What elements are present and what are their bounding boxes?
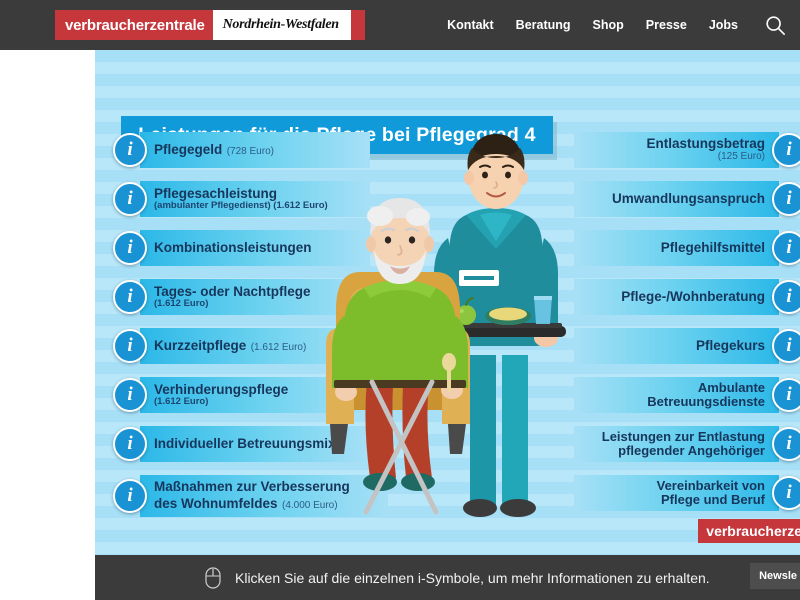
watermark-logo: verbraucherze [698,519,800,543]
item-amount: (125 Euro) [646,152,765,163]
bar-text: Tages- oder Nachtpflege (1.612 Euro) [140,285,321,310]
item-sub: (ambulanter Pflegedienst) (1.612 Euro) [154,201,328,211]
bar-text: Pflegegeld (728 Euro) [140,141,284,158]
bar-pflege-wohnberatung: Pflege-/Wohnberatung [574,279,779,315]
bar-text: Pflege-/Wohnberatung [611,288,779,305]
info-icon-verhinderungspflege[interactable]: i [113,378,147,412]
item-label: Tages- oder Nachtpflege [154,285,311,300]
item-label-line1: Ambulante [647,381,765,395]
nav-item-kontakt[interactable]: Kontakt [447,18,494,32]
item-amount: (1.612 Euro) [251,342,307,353]
bar-text: Ambulante Betreuungsdienste [637,381,779,409]
item-label: Pflegekurs [696,338,765,353]
info-icon-pflegehilfsmittel[interactable]: i [772,231,800,265]
item-label-line2: Pflege und Beruf [657,493,765,507]
bar-text: Individueller Betreuungsmix [140,435,346,452]
bar-text: Pflegesachleistung (ambulanter Pflegedie… [140,187,338,212]
row-pflege-wohnberatung[interactable]: i Pflege-/Wohnberatung [574,279,800,315]
top-navigation-bar: verbraucherzentrale Nordrhein-Westfalen … [0,0,800,50]
nav-item-presse[interactable]: Presse [646,18,687,32]
bar-pflegehilfsmittel: Pflegehilfsmittel [574,230,779,266]
row-entlastungsbetrag[interactable]: i Entlastungsbetrag (125 Euro) [574,132,800,168]
newsletter-button[interactable]: Newsle [750,563,800,589]
bar-text: Kombinationsleistungen [140,239,322,256]
item-label-line1: Leistungen zur Entlastung [602,430,765,444]
item-label-line2: pflegender Angehöriger [602,444,765,458]
bar-text: Kurzzeitpflege (1.612 Euro) [140,337,316,354]
bar-text: Leistungen zur Entlastung pflegender Ang… [592,430,779,458]
search-icon[interactable] [764,14,786,36]
info-icon-individueller-betreuungsmix[interactable]: i [113,427,147,461]
nav-item-jobs[interactable]: Jobs [709,18,738,32]
item-label-line2: des Wohnumfeldes [154,496,278,511]
bar-leistungen-zur-entlastung: Leistungen zur Entlastung pflegender Ang… [574,426,779,462]
hint-bar: Klicken Sie auf die einzelnen i-Symbole,… [95,555,800,600]
bar-entlastungsbetrag: Entlastungsbetrag (125 Euro) [574,132,779,168]
logo-red-cap [351,10,365,40]
info-icon-pflegegeld[interactable]: i [113,133,147,167]
site-logo[interactable]: verbraucherzentrale Nordrhein-Westfalen [55,10,365,40]
item-sub: (1.612 Euro) [154,397,288,407]
bar-ambulante-betreuungsdienste: Ambulante Betreuungsdienste [574,377,779,413]
left-gutter [0,50,95,600]
item-label: Kombinationsleistungen [154,240,312,255]
info-icon-wohnumfeldverbesserung[interactable]: i [113,479,147,513]
bar-text: Verhinderungspflege (1.612 Euro) [140,383,298,408]
row-vereinbarkeit-pflege-beruf[interactable]: i Vereinbarkeit von Pflege und Beruf [574,475,800,511]
item-label: Kurzzeitpflege [154,338,246,353]
item-amount: (728 Euro) [227,146,274,157]
info-icon-pflegesachleistung[interactable]: i [113,182,147,216]
item-label: Verhinderungspflege [154,383,288,398]
item-label-line2: Betreuungsdienste [647,395,765,409]
info-icon-umwandlungsanspruch[interactable]: i [772,182,800,216]
item-label: Individueller Betreuungsmix [154,436,336,451]
info-icon-kurzzeitpflege[interactable]: i [113,329,147,363]
item-sub: (1.612 Euro) [154,299,311,309]
hint-text: Klicken Sie auf die einzelnen i-Symbole,… [235,570,710,586]
item-label: Umwandlungsanspruch [612,191,765,206]
main-nav: Kontakt Beratung Shop Presse Jobs [447,0,786,50]
item-label: Pflegegeld [154,142,222,157]
bar-text: Vereinbarkeit von Pflege und Beruf [647,479,779,507]
info-icon-kombinationsleistungen[interactable]: i [113,231,147,265]
logo-primary-text: verbraucherzentrale [55,10,213,40]
item-label: Pflegehilfsmittel [661,240,765,255]
info-icon-vereinbarkeit-pflege-beruf[interactable]: i [772,476,800,510]
row-ambulante-betreuungsdienste[interactable]: i Ambulante Betreuungsdienste [574,377,800,413]
nav-item-beratung[interactable]: Beratung [516,18,571,32]
bar-text: Pflegekurs [686,337,779,354]
bar-pflegekurs: Pflegekurs [574,328,779,364]
item-label: Entlastungsbetrag [646,137,765,152]
info-icon-entlastungsbetrag[interactable]: i [772,133,800,167]
info-icon-pflegekurs[interactable]: i [772,329,800,363]
care-illustration [320,120,590,540]
page-root: verbraucherzentrale Nordrhein-Westfalen … [0,0,800,600]
row-umwandlungsanspruch[interactable]: i Umwandlungsanspruch [574,181,800,217]
bar-vereinbarkeit-pflege-beruf: Vereinbarkeit von Pflege und Beruf [574,475,779,511]
info-icon-leistungen-zur-entlastung[interactable]: i [772,427,800,461]
infographic-stage: Leistungen für die Pflege bei Pflegegrad… [95,50,800,555]
info-icon-tages-oder-nachtpflege[interactable]: i [113,280,147,314]
nav-item-shop[interactable]: Shop [593,18,624,32]
info-icon-ambulante-betreuungsdienste[interactable]: i [772,378,800,412]
logo-secondary-text: Nordrhein-Westfalen [213,10,351,40]
bar-text: Umwandlungsanspruch [602,190,779,207]
row-pflegekurs[interactable]: i Pflegekurs [574,328,800,364]
bar-umwandlungsanspruch: Umwandlungsanspruch [574,181,779,217]
row-pflegehilfsmittel[interactable]: i Pflegehilfsmittel [574,230,800,266]
item-label: Pflegesachleistung [154,187,328,202]
info-icon-pflege-wohnberatung[interactable]: i [772,280,800,314]
bar-text: Pflegehilfsmittel [651,239,779,256]
row-leistungen-zur-entlastung[interactable]: i Leistungen zur Entlastung pflegender A… [574,426,800,462]
mouse-icon [205,567,221,589]
item-label-line1: Vereinbarkeit von [657,479,765,493]
item-label: Pflege-/Wohnberatung [621,289,765,304]
bar-text: Entlastungsbetrag (125 Euro) [636,137,779,162]
